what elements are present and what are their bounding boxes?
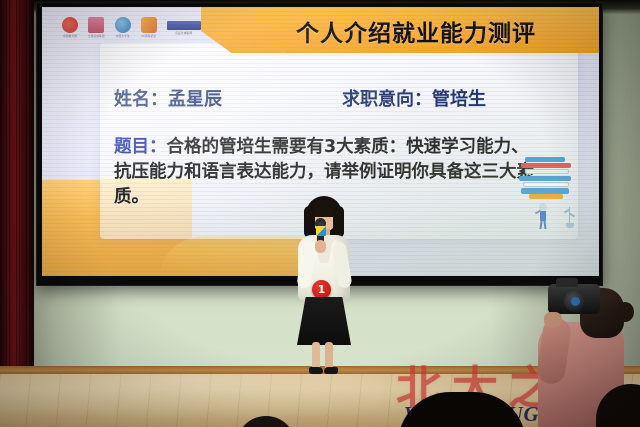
potted-plant-icon [563, 207, 577, 229]
camera-lens-reflection [571, 297, 580, 306]
sponsor-logo: 20周年纪念 [141, 17, 157, 38]
camera-viewfinder [556, 278, 578, 287]
presenter-hair-left [304, 206, 315, 238]
logo-5-icon [167, 21, 201, 30]
photo-canvas: 中国教育网 全国高校联盟 中国大学生 20周年纪念 [0, 0, 640, 427]
logo-1-icon [62, 17, 78, 33]
logo-4-icon [141, 17, 157, 33]
book-stack-icon [519, 157, 575, 197]
field-job-intent-value: 管培生 [432, 89, 486, 110]
presenter-shoe-right [324, 367, 338, 374]
presenter-skirt [297, 297, 351, 345]
sponsor-logo-row: 中国教育网 全国高校联盟 中国大学生 20周年纪念 [62, 17, 201, 38]
photographer-hand [544, 312, 562, 328]
curtain-fold [6, 0, 10, 372]
question-label: 题目 [114, 137, 149, 157]
slide-title-banner: 个人介绍就业能力测评 [217, 7, 599, 53]
field-job-intent-label: 求职意向 [342, 89, 414, 110]
logo-2-caption: 全国高校联盟 [88, 34, 105, 38]
presenter-figure: 1 [288, 196, 360, 378]
sponsor-logo: 应届生求职网 [167, 21, 201, 35]
logo-4-caption: 20周年纪念 [141, 34, 156, 38]
field-name: 姓名：孟星辰 [114, 85, 222, 111]
logo-2-icon [88, 17, 104, 33]
field-name-sep: ： [150, 89, 168, 110]
presenter-leg-left [312, 342, 320, 370]
field-job-intent-sep: ： [414, 89, 432, 110]
microphone-flag-icon [316, 226, 326, 236]
question-separator: ： [149, 137, 167, 157]
field-name-label: 姓名 [114, 89, 150, 110]
logo-3-icon [115, 17, 131, 33]
logo-1-caption: 中国教育网 [63, 34, 77, 38]
sponsor-logo: 中国大学生 [115, 17, 131, 38]
logo-5-caption: 应届生求职网 [175, 31, 192, 35]
presenter-hair-right [333, 206, 344, 238]
curtain-fold [26, 0, 30, 372]
photographer-hair-bun [616, 302, 634, 322]
presenter-hand [315, 240, 326, 253]
presenter-shoe-left [309, 367, 323, 374]
curtain-fold [16, 0, 20, 372]
slide-title: 个人介绍就业能力测评 [251, 11, 581, 51]
contestant-number-badge: 1 [312, 280, 331, 299]
sponsor-logo: 全国高校联盟 [88, 17, 105, 38]
field-job-intent: 求职意向：管培生 [342, 85, 486, 111]
field-name-value: 孟星辰 [168, 89, 222, 110]
logo-3-caption: 中国大学生 [116, 34, 130, 38]
presenter-leg-right [325, 342, 333, 370]
sponsor-logo: 中国教育网 [62, 17, 78, 38]
stage-curtain [0, 0, 34, 372]
standing-person-icon [535, 203, 551, 229]
